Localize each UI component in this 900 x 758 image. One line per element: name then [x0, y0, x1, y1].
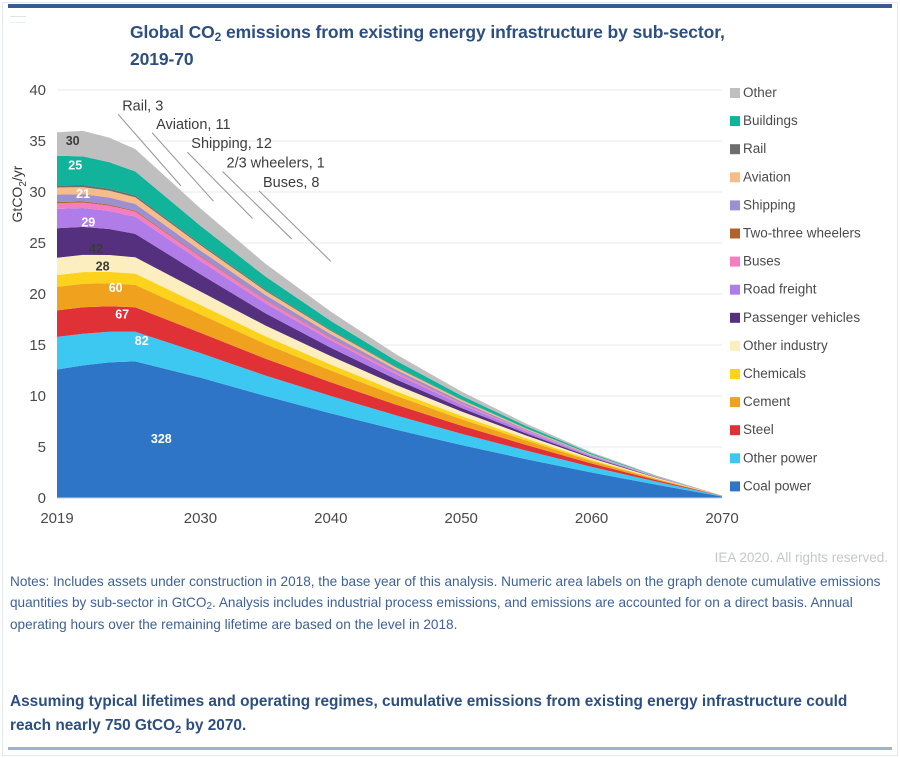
legend-label: Other — [743, 85, 777, 100]
legend-label: Steel — [743, 422, 774, 437]
legend-item[interactable]: Steel — [730, 422, 774, 437]
x-tick-label: 2050 — [445, 510, 478, 527]
legend-label: Buses — [743, 254, 781, 269]
legend-item[interactable]: Two-three wheelers — [730, 226, 861, 241]
legend-item[interactable]: Road freight — [730, 282, 817, 297]
legend-swatch — [730, 397, 740, 407]
takeaway-text-b: by 2070. — [181, 717, 246, 734]
takeaway-subscript: 2 — [175, 724, 181, 736]
y-axis-title-text: GtCO2/yr — [9, 165, 29, 222]
legend-swatch — [730, 425, 740, 435]
area-value-label: 21 — [76, 187, 90, 201]
y-axis-ticks: 0510152025303540 — [29, 82, 46, 507]
y-tick-label: 15 — [29, 337, 46, 354]
y-tick-label: 20 — [29, 286, 46, 303]
legend-swatch — [730, 341, 740, 351]
top-divider — [8, 4, 892, 8]
key-takeaway: Assuming typical lifetimes and operating… — [10, 690, 880, 739]
area-value-label: 28 — [96, 260, 110, 274]
legend-swatch — [730, 369, 740, 379]
area-value-label: 82 — [135, 334, 149, 348]
legend-item[interactable]: Other power — [730, 450, 818, 465]
legend-item[interactable]: Cement — [730, 394, 791, 409]
callout-label: Rail, 3 — [122, 98, 163, 114]
chart-title-part1: Global CO — [130, 22, 215, 42]
legend-item[interactable]: Buildings — [730, 113, 798, 128]
area-value-label: 42 — [89, 242, 103, 256]
y-tick-label: 5 — [38, 439, 46, 456]
x-axis-ticks: 201920302040205020602070 — [40, 510, 738, 527]
area-value-label: 25 — [68, 159, 82, 173]
chart-title-subscript: 2 — [215, 30, 222, 44]
y-tick-label: 35 — [29, 133, 46, 150]
legend-item[interactable]: Other industry — [730, 338, 828, 353]
legend-item[interactable]: Buses — [730, 254, 781, 269]
legend-item[interactable]: Rail — [730, 141, 766, 156]
legend-swatch — [730, 200, 740, 210]
legend-swatch — [730, 257, 740, 267]
legend-label: Two-three wheelers — [743, 226, 861, 241]
area-value-label: 60 — [109, 281, 123, 295]
legend-item[interactable]: Other — [730, 85, 777, 100]
notes-paragraph: Notes: Includes assets under constructio… — [10, 572, 892, 636]
legend-swatch — [730, 285, 740, 295]
y-tick-label: 10 — [29, 388, 46, 405]
area-value-label: 67 — [115, 307, 129, 321]
x-tick-label: 2030 — [184, 510, 217, 527]
takeaway-text-a: Assuming typical lifetimes and operating… — [10, 693, 847, 734]
legend-label: Coal power — [743, 478, 812, 493]
legend-label: Passenger vehicles — [743, 310, 860, 325]
legend-label: Chemicals — [743, 366, 806, 381]
chart-title-line2: 2019-70 — [130, 49, 194, 69]
chart-title: Global CO2 emissions from existing energ… — [130, 20, 870, 72]
notes-subscript: 2 — [206, 601, 212, 612]
y-tick-label: 0 — [38, 490, 46, 507]
legend-item[interactable]: Passenger vehicles — [730, 310, 860, 325]
area-value-label: 29 — [81, 216, 95, 230]
legend-label: Road freight — [743, 282, 817, 297]
callout-label: Shipping, 12 — [191, 136, 272, 152]
legend-label: Rail — [743, 141, 766, 156]
legend-label: Buildings — [743, 113, 798, 128]
copyright-notice: IEA 2020. All rights reserved. — [715, 550, 888, 565]
legend-label: Other power — [743, 450, 818, 465]
legend-swatch — [730, 88, 740, 98]
x-tick-label: 2070 — [705, 510, 738, 527]
callout-label: Buses, 8 — [263, 175, 319, 191]
legend-label: Shipping — [743, 197, 796, 212]
callout-label: Aviation, 11 — [156, 117, 230, 133]
legend-label: Cement — [743, 394, 791, 409]
x-tick-label: 2060 — [575, 510, 608, 527]
legend-swatch — [730, 116, 740, 126]
chart-svg: 0510152025303540GtCO2/yr2019203020402050… — [0, 78, 900, 533]
y-tick-label: 25 — [29, 235, 46, 252]
legend-item[interactable]: Aviation — [730, 169, 791, 184]
corner-watermark — [10, 16, 26, 23]
legend-swatch — [730, 313, 740, 323]
legend-swatch — [730, 172, 740, 182]
legend-item[interactable]: Chemicals — [730, 366, 806, 381]
x-tick-label: 2040 — [314, 510, 347, 527]
legend: OtherBuildingsRailAviationShippingTwo-th… — [730, 85, 861, 493]
legend-item[interactable]: Shipping — [730, 197, 796, 212]
area-value-label: 328 — [151, 432, 172, 446]
y-tick-label: 40 — [29, 82, 46, 99]
area-value-label: 30 — [66, 134, 80, 148]
bottom-divider — [8, 747, 892, 750]
legend-item[interactable]: Coal power — [730, 478, 812, 493]
y-tick-label: 30 — [29, 184, 46, 201]
legend-label: Aviation — [743, 169, 791, 184]
legend-swatch — [730, 229, 740, 239]
x-tick-label: 2019 — [40, 510, 73, 527]
callout-label: 2/3 wheelers, 1 — [227, 156, 325, 172]
legend-swatch — [730, 481, 740, 491]
y-axis-title: GtCO2/yr — [9, 165, 29, 222]
legend-swatch — [730, 144, 740, 154]
chart-title-part2: emissions from existing energy infrastru… — [221, 22, 725, 42]
callout-leader-line — [259, 191, 331, 261]
legend-label: Other industry — [743, 338, 828, 353]
stacked-area-chart: 0510152025303540GtCO2/yr2019203020402050… — [0, 78, 900, 533]
legend-swatch — [730, 453, 740, 463]
